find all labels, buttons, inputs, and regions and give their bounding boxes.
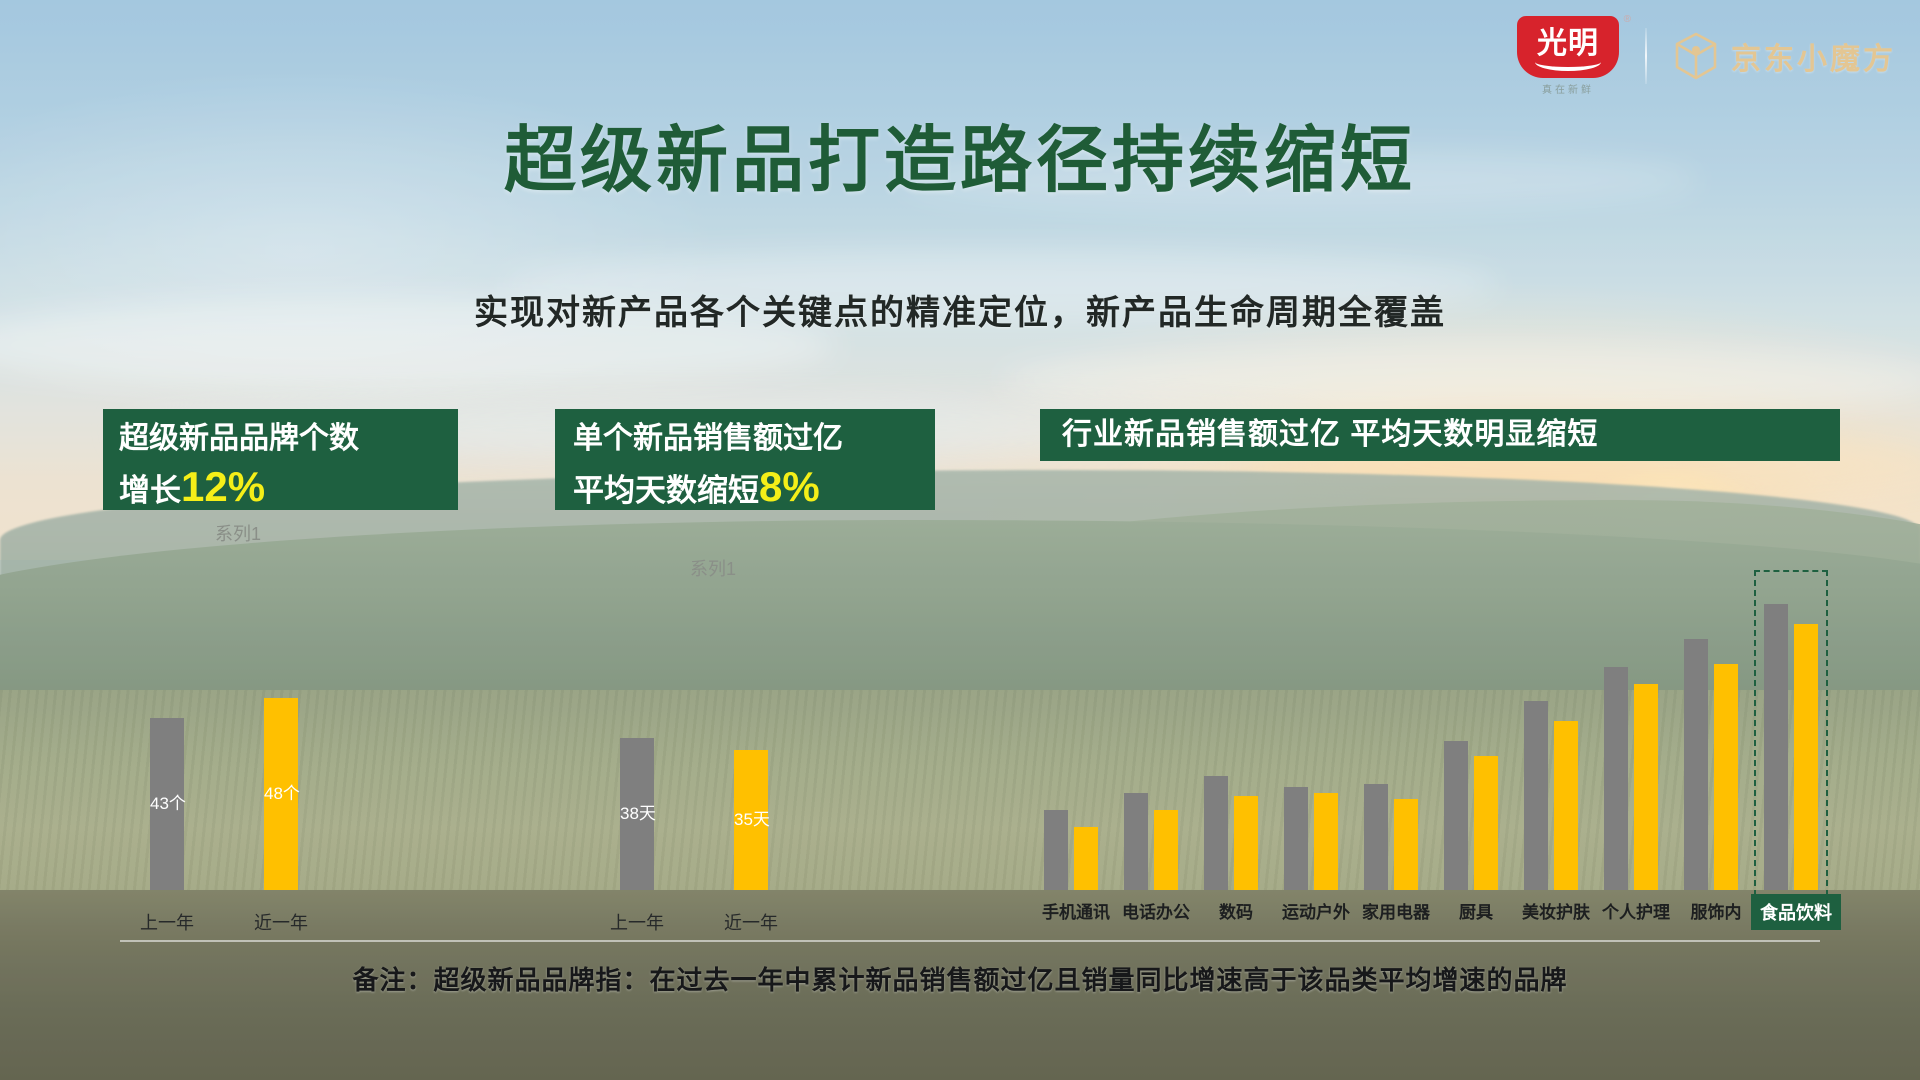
jd-xiaomofang-logo: 京东小魔方 xyxy=(1673,31,1896,81)
cube-dot-icon xyxy=(1692,46,1700,54)
bar-value-label: 48个 xyxy=(264,779,298,804)
bar-value-label: 35天 xyxy=(734,805,768,830)
bar-运动户外-近一年 xyxy=(1314,793,1338,890)
page-title: 超级新品打造路径持续缩短 xyxy=(0,125,1920,197)
highlight-dashed-frame xyxy=(1754,570,1828,896)
cube-icon xyxy=(1673,31,1719,81)
x-axis-label: 上一年 xyxy=(602,909,672,935)
footer-divider xyxy=(120,940,1820,942)
bar-数码-上一年 xyxy=(1204,776,1228,890)
bar-group-个人护理: 个人护理 xyxy=(1596,520,1676,890)
bar-美妆护肤-近一年 xyxy=(1554,721,1578,890)
bar-手机通讯-近一年 xyxy=(1074,827,1098,890)
callout1-line2-prefix: 增长 xyxy=(119,473,181,508)
bar-group-数码: 数码 xyxy=(1196,520,1276,890)
callout1-highlight-value: 12% xyxy=(181,463,265,510)
category-label: 数码 xyxy=(1219,898,1253,923)
x-axis-label: 上一年 xyxy=(132,909,202,935)
bar-个人护理-近一年 xyxy=(1634,684,1658,890)
x-axis-label: 近一年 xyxy=(716,909,786,935)
callout1-line2: 增长12% xyxy=(119,463,442,515)
guangming-badge: 光明 ® xyxy=(1517,16,1619,78)
category-label: 服饰内 xyxy=(1691,898,1742,923)
bar-group-家用电器: 家用电器 xyxy=(1356,520,1436,890)
guangming-smile-icon xyxy=(1535,53,1601,71)
bar-group-美妆护肤: 美妆护肤 xyxy=(1516,520,1596,890)
jd-logo-text: 京东小魔方 xyxy=(1731,34,1896,78)
callout2-line2-prefix: 平均天数缩短 xyxy=(573,473,759,508)
bar-value-label: 38天 xyxy=(620,799,654,824)
bar-group-手机通讯: 手机通讯 xyxy=(1036,520,1116,890)
bar-厨具-近一年 xyxy=(1474,756,1498,890)
bar-运动户外-上一年 xyxy=(1284,787,1308,890)
bar-value-label: 43个 xyxy=(150,789,184,814)
guangming-logo-subtext: 真在新鲜 xyxy=(1542,81,1594,96)
category-label: 手机通讯 xyxy=(1042,898,1110,923)
category-label: 美妆护肤 xyxy=(1522,898,1590,923)
callout2-line1: 单个新品销售额过亿 xyxy=(573,415,917,463)
footer-note: 备注：超级新品品牌指：在过去一年中累计新品销售额过亿且销量同比增速高于该品类平均… xyxy=(0,960,1920,997)
bar-厨具-上一年 xyxy=(1444,741,1468,890)
bar-家用电器-近一年 xyxy=(1394,799,1418,890)
callout3-line1: 行业新品销售额过亿 平均天数明显缩短 xyxy=(1062,414,1818,456)
bar-group-运动户外: 运动户外 xyxy=(1276,520,1356,890)
bar-电话办公-近一年 xyxy=(1154,810,1178,890)
callout-box-single-product: 单个新品销售额过亿 平均天数缩短8% xyxy=(555,409,935,510)
category-label-highlighted: 食品饮料 xyxy=(1751,894,1841,930)
bar-电话办公-上一年 xyxy=(1124,793,1148,890)
bar-group-电话办公: 电话办公 xyxy=(1116,520,1196,890)
callout-box-brand-count: 超级新品品牌个数 增长12% xyxy=(103,409,458,510)
chart-industry-category-days: 手机通讯电话办公数码运动户外家用电器厨具美妆护肤个人护理服饰内食品饮料 xyxy=(1030,520,1890,890)
bar-group-服饰内: 服饰内 xyxy=(1676,520,1756,890)
bar-服饰内-近一年 xyxy=(1714,664,1738,890)
category-label: 个人护理 xyxy=(1602,898,1670,923)
logo-bar: 光明 ® 真在新鲜 京东小魔方 xyxy=(1517,16,1896,96)
guangming-logo: 光明 ® 真在新鲜 xyxy=(1517,16,1619,96)
category-label: 运动户外 xyxy=(1282,898,1350,923)
logo-divider xyxy=(1645,28,1647,84)
registered-mark-icon: ® xyxy=(1624,14,1631,25)
page-subtitle: 实现对新产品各个关键点的精准定位，新产品生命周期全覆盖 xyxy=(0,285,1920,334)
bar-数码-近一年 xyxy=(1234,796,1258,890)
chart-super-new-brand-count: 43个上一年48个近一年 xyxy=(120,560,440,890)
category-label: 家用电器 xyxy=(1362,898,1430,923)
callout2-line2: 平均天数缩短8% xyxy=(573,463,917,515)
bar-家用电器-上一年 xyxy=(1364,784,1388,890)
callout1-line1: 超级新品品牌个数 xyxy=(119,415,442,463)
x-axis-label: 近一年 xyxy=(246,909,316,935)
bar-服饰内-上一年 xyxy=(1684,639,1708,890)
callout-box-industry: 行业新品销售额过亿 平均天数明显缩短 xyxy=(1040,409,1840,461)
bar-group-厨具: 厨具 xyxy=(1436,520,1516,890)
category-label: 电话办公 xyxy=(1122,898,1190,923)
series-label-left: 系列1 xyxy=(215,520,261,546)
callout2-highlight-value: 8% xyxy=(759,463,820,510)
bar-手机通讯-上一年 xyxy=(1044,810,1068,890)
category-label: 厨具 xyxy=(1459,898,1493,923)
chart-single-product-days: 38天上一年35天近一年 xyxy=(590,560,910,890)
bar-个人护理-上一年 xyxy=(1604,667,1628,890)
bar-美妆护肤-上一年 xyxy=(1524,701,1548,890)
